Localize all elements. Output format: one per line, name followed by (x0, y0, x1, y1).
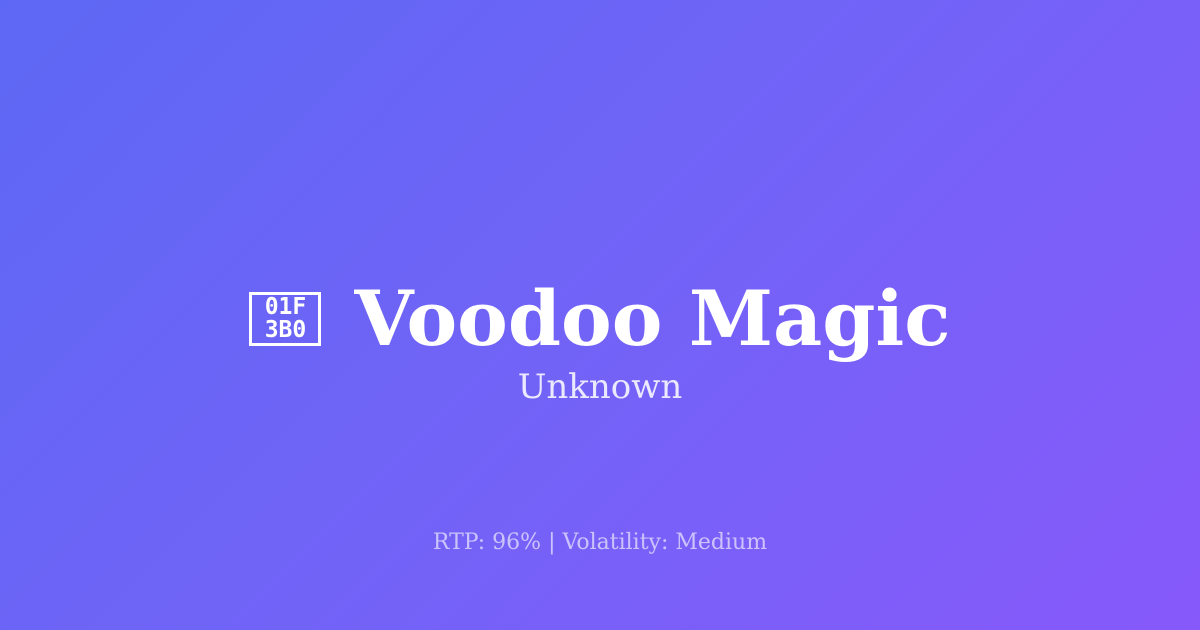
page-title: Voodoo Magic (354, 279, 950, 359)
slot-machine-icon-codepoint-high: 01F (265, 296, 307, 319)
share-card: 01F 3B0 Voodoo Magic Unknown RTP: 96% | … (0, 0, 1200, 630)
slot-machine-icon: 01F 3B0 (249, 292, 321, 346)
game-stats-line: RTP: 96% | Volatility: Medium (0, 528, 1200, 558)
slot-machine-icon-codepoint-low: 3B0 (265, 319, 307, 342)
page-subtitle: Unknown (0, 365, 1200, 409)
